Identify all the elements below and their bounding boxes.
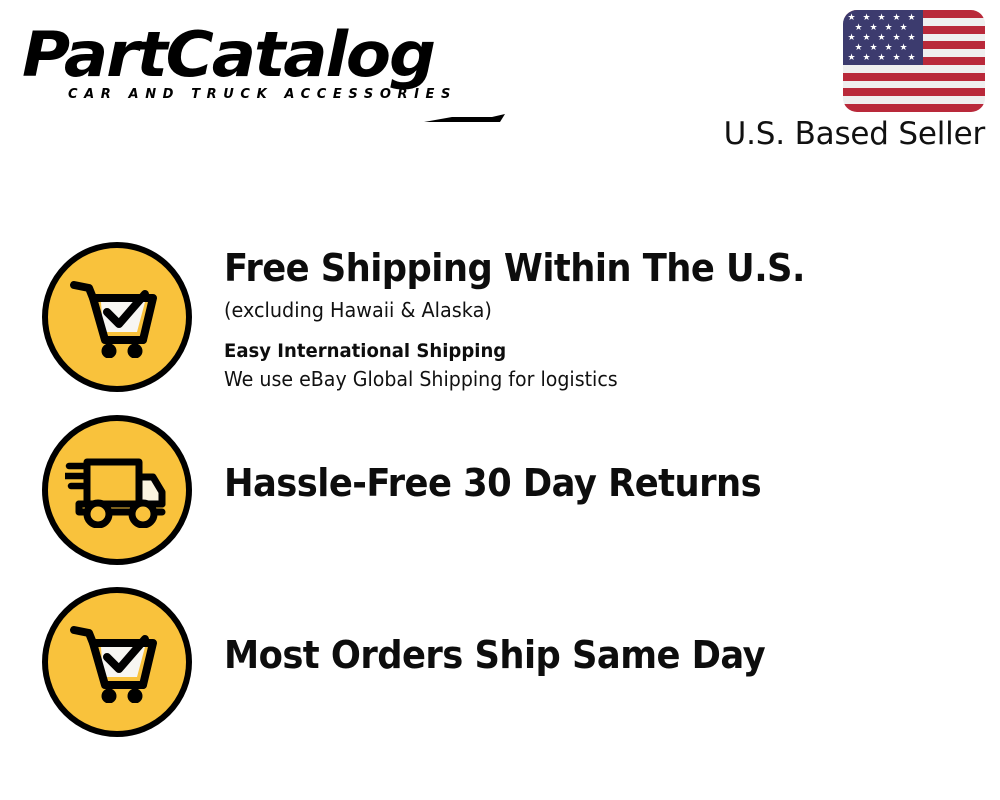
shopping-cart-check-icon [42, 587, 192, 737]
flag-canton: ★ ★ ★ ★ ★ ★ ★ ★ ★ ★ ★ ★ ★ ★ ★ ★ ★ ★ ★ ★ [843, 10, 923, 65]
flag-stripe [843, 104, 985, 112]
flag-stripe [843, 81, 985, 89]
flag-star: ★ [907, 13, 916, 22]
flag-star: ★ [862, 13, 871, 22]
swoosh-underline-icon [422, 106, 506, 124]
flag-star: ★ [907, 33, 916, 42]
flag-star: ★ [892, 33, 901, 42]
flag-star: ★ [877, 53, 886, 62]
flag-star: ★ [907, 53, 916, 62]
us-based-seller-label: U.S. Based Seller [705, 116, 985, 152]
feature-title: Hassle-Free 30 Day Returns [224, 460, 946, 506]
flag-star: ★ [899, 23, 908, 32]
flag-star: ★ [854, 43, 863, 52]
flag-star: ★ [869, 23, 878, 32]
flag-star: ★ [877, 13, 886, 22]
flag-star: ★ [899, 43, 908, 52]
us-flag-icon: ★ ★ ★ ★ ★ ★ ★ ★ ★ ★ ★ ★ ★ ★ ★ ★ ★ ★ ★ ★ [843, 10, 985, 112]
feature-title: Most Orders Ship Same Day [224, 632, 946, 678]
flag-stripe [843, 73, 985, 81]
feature-note: (excluding Hawaii & Alaska) [224, 297, 969, 323]
flag-stripe [843, 65, 985, 73]
flag-star: ★ [847, 53, 856, 62]
flag-star: ★ [847, 13, 856, 22]
flag-star: ★ [869, 43, 878, 52]
flag-star: ★ [862, 53, 871, 62]
shopping-cart-check-icon [42, 242, 192, 392]
flag-stripe [843, 96, 985, 104]
flag-star: ★ [884, 43, 893, 52]
page-header: PartCatalog CAR AND TRUCK ACCESSORIES ★ [0, 0, 1000, 175]
flag-star: ★ [877, 33, 886, 42]
feature-text: Hassle-Free 30 Day Returns [224, 415, 1000, 506]
flag-star: ★ [862, 33, 871, 42]
brand-wordmark: PartCatalog [22, 22, 520, 88]
us-based-seller-badge: ★ ★ ★ ★ ★ ★ ★ ★ ★ ★ ★ ★ ★ ★ ★ ★ ★ ★ ★ ★ [705, 10, 985, 152]
flag-star: ★ [892, 53, 901, 62]
feature-row: Hassle-Free 30 Day Returns [0, 415, 1000, 565]
feature-row: Free Shipping Within The U.S. (excluding… [0, 242, 1000, 392]
flag-star: ★ [884, 23, 893, 32]
flag-star: ★ [892, 13, 901, 22]
flag-stripe [843, 88, 985, 96]
feature-row: Most Orders Ship Same Day [0, 587, 1000, 737]
feature-text: Most Orders Ship Same Day [224, 587, 1000, 678]
feature-title: Free Shipping Within The U.S. [224, 245, 946, 291]
brand-logo[interactable]: PartCatalog CAR AND TRUCK ACCESSORIES [22, 22, 492, 102]
flag-star: ★ [854, 23, 863, 32]
delivery-truck-icon [42, 415, 192, 565]
flag-star: ★ [847, 33, 856, 42]
feature-text: Free Shipping Within The U.S. (excluding… [224, 242, 1000, 392]
feature-detail: We use eBay Global Shipping for logistic… [224, 366, 961, 392]
feature-subtitle: Easy International Shipping [224, 339, 961, 363]
